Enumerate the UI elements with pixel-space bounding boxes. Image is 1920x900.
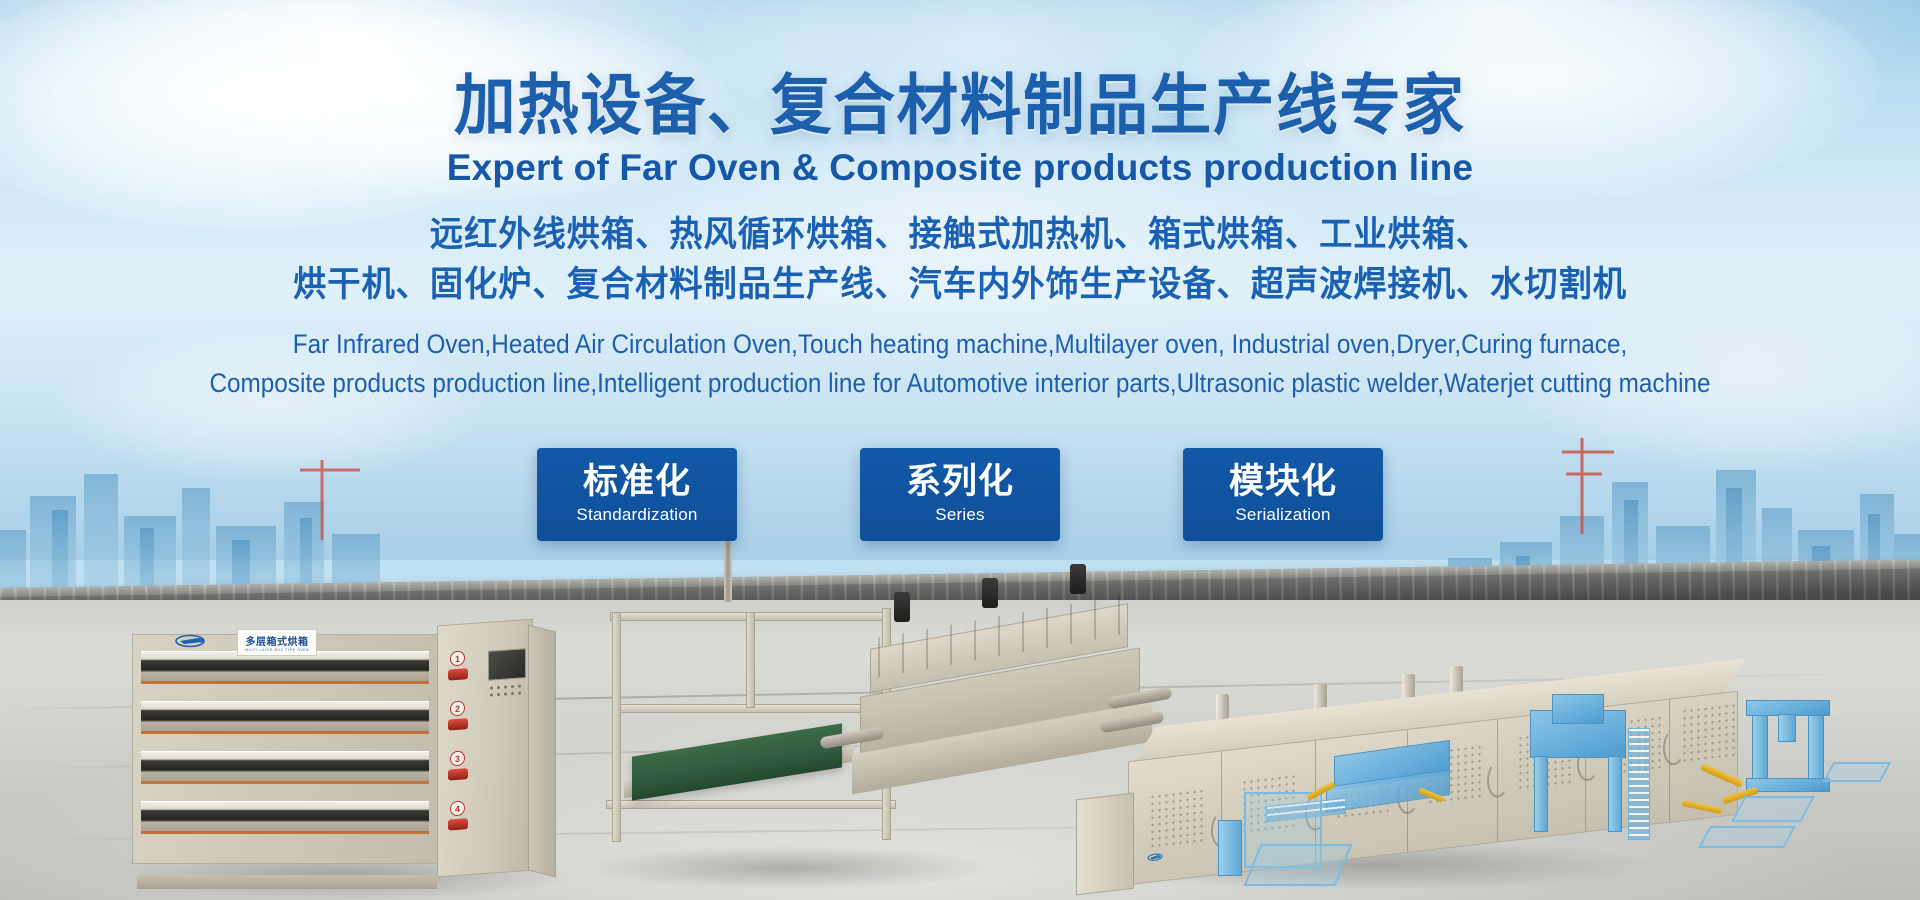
frame-beam-bottom [606, 800, 896, 809]
oven-valve-2[interactable]: 2 [448, 716, 470, 736]
headline-chinese: 加热设备、复合材料制品生产线专家 [67, 72, 1853, 139]
oven-end-cabinet [1076, 793, 1134, 896]
oven-valve-4[interactable]: 4 [448, 816, 470, 836]
transfer-tray [1698, 826, 1796, 848]
access-ladder [1628, 728, 1650, 840]
oven-valve-3[interactable]: 3 [448, 766, 470, 786]
blue-frame-base [1746, 778, 1830, 792]
badge-label-cn: 标准化 [583, 464, 691, 501]
badge-label-en: Serialization [1235, 505, 1330, 525]
subtitle-chinese: 远红外线烘箱、热风循环烘箱、接触式加热机、箱式烘箱、工业烘箱、 烘干机、固化炉、… [48, 211, 1872, 310]
transfer-tray [1731, 796, 1815, 822]
badge-label-cn: 模块化 [1229, 464, 1337, 501]
badge-series[interactable]: 系列化 Series [860, 448, 1060, 541]
valve-handle-icon [448, 718, 468, 730]
oven-side-wall [528, 625, 556, 878]
subtitle-chinese-line-2: 烘干机、固化炉、复合材料制品生产线、汽车内外饰生产设备、超声波焊接机、水切割机 [48, 261, 1872, 311]
subtitle-english: Far Infrared Oven,Heated Air Circulation… [96, 325, 1824, 403]
oven-body: 多层箱式烘箱 MULTI-LAYER BOX TYPE OVEN [132, 634, 442, 864]
robot-arm [1700, 763, 1743, 787]
oven-valve-number: 3 [450, 750, 465, 766]
oven-nameplate: 多层箱式烘箱 MULTI-LAYER BOX TYPE OVEN [237, 629, 317, 656]
oven-valve-1[interactable]: 1 [448, 666, 470, 686]
subtitle-english-line-2: Composite products production line,Intel… [96, 364, 1824, 403]
oven-shelf [141, 801, 429, 831]
badge-label-en: Standardization [576, 505, 697, 525]
oven-valve-number: 1 [450, 650, 465, 666]
banner-text-block: 加热设备、复合材料制品生产线专家 Expert of Far Oven & Co… [0, 0, 1920, 403]
machine-multilayer-oven: 多层箱式烘箱 MULTI-LAYER BOX TYPE OVEN 1 2 3 [132, 618, 552, 886]
oven-brand-logo-icon [1147, 850, 1167, 864]
subtitle-chinese-line-1: 远红外线烘箱、热风循环烘箱、接触式加热机、箱式烘箱、工业烘箱、 [48, 211, 1872, 261]
company-logo-icon [173, 633, 217, 653]
conveyor-belt-green [632, 723, 842, 800]
oven-perforation-panel [1149, 788, 1203, 852]
oven-valve-number: 4 [450, 800, 465, 816]
press-cylinder [894, 592, 910, 622]
machine-blue-auxiliary-line [1516, 700, 1920, 900]
press-cylinder [982, 578, 998, 608]
frame-post-left [612, 612, 621, 842]
subtitle-english-line-1: Far Infrared Oven,Heated Air Circulation… [96, 325, 1824, 364]
oven-nameplate-title: 多层箱式烘箱 [246, 633, 309, 648]
hero-banner: 加热设备、复合材料制品生产线专家 Expert of Far Oven & Co… [0, 0, 1920, 900]
oven-nameplate-sub: MULTI-LAYER BOX TYPE OVEN [245, 648, 309, 652]
robot-arm [1682, 800, 1722, 814]
blue-end-panel [1218, 820, 1242, 876]
blue-frame-post [1808, 706, 1824, 784]
oven-base [137, 875, 437, 889]
frame-post-center [746, 612, 755, 708]
blue-press-leg [1608, 756, 1622, 832]
headline-english: Expert of Far Oven & Composite products … [0, 147, 1920, 189]
oven-vent-dots [490, 684, 526, 701]
oven-control-panel: 1 2 3 4 [437, 619, 533, 878]
machine-blue-conveyor-cluster [1222, 748, 1552, 900]
valve-handle-icon [448, 668, 468, 680]
badge-label-en: Series [935, 505, 984, 525]
blue-press-cap [1552, 694, 1604, 724]
badge-standardization[interactable]: 标准化 Standardization [537, 448, 737, 541]
badge-label-cn: 系列化 [906, 464, 1014, 501]
blue-frame-post [1752, 706, 1768, 784]
valve-handle-icon [448, 768, 468, 780]
oven-shelf [141, 751, 429, 781]
blue-frame-ram [1778, 714, 1796, 742]
press-cylinder [1070, 564, 1086, 594]
oven-shelf [141, 701, 429, 731]
oven-display-screen [488, 648, 526, 681]
blue-stair [1244, 844, 1353, 886]
valve-handle-icon [448, 818, 468, 830]
transfer-tray [1823, 762, 1892, 782]
feature-badges: 标准化 Standardization 系列化 Series 模块化 Seria… [0, 448, 1920, 541]
badge-serialization[interactable]: 模块化 Serialization [1183, 448, 1383, 541]
oven-valve-number: 2 [450, 700, 465, 716]
